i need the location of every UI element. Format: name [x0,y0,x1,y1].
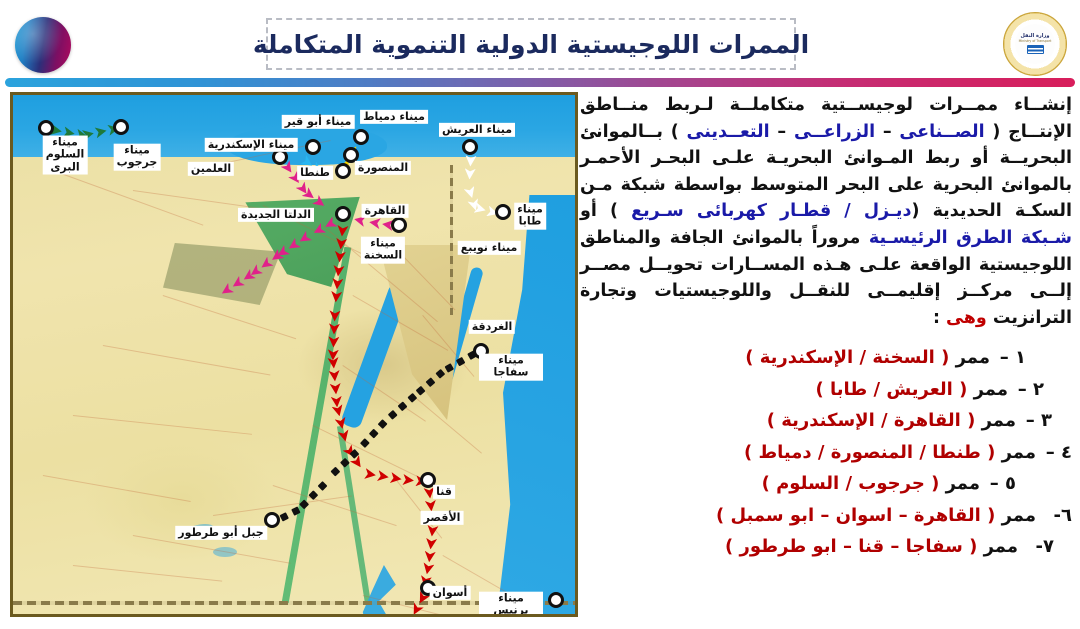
desc-wahya: وهى [946,308,987,328]
seal-sub: Ministry of Transport [1019,40,1052,43]
description-panel: إنشــاء ممــرات لوجيســتية متكاملــة لـر… [580,92,1072,619]
corridor-arrow [330,382,342,394]
map-label-berenice: ميناء برنيس [479,592,543,617]
map-label-abutartour: جبل أبو طرطور [175,526,267,540]
map-label-tanta: طنطا [297,166,333,180]
desc-rail: ديـزل / قطـار كهربائى سـريع [631,201,911,221]
description-paragraph: إنشــاء ممــرات لوجيســتية متكاملــة لـر… [580,92,1072,331]
road-segment [163,295,296,339]
desc-after-2: ) أو [580,201,631,221]
corridor-arrow [328,336,339,347]
corridor-arrow [402,474,414,486]
road-segment [103,345,271,376]
page-title-box: الممرات اللوجيستية الدولية التنموية المت… [266,18,796,70]
corridor-arrow [398,401,408,411]
corridor-arrow [426,377,436,387]
corridor-arrow [328,323,339,334]
seal-inner: وزارة النقل Ministry of Transport [1015,24,1055,64]
corridor-number: ٥ – [986,473,1016,496]
corridor-arish-taba [464,155,477,188]
map-label-aboukir: ميناء أبو قير [282,115,355,129]
map-node-cairo[interactable] [335,206,351,222]
corridor-arrow [465,155,477,167]
corridor-item-5: ٥ – ممر ( جرجوب / السلوم ) [580,473,1016,496]
corridor-word: ممر [975,410,1016,431]
map-node-arish[interactable] [462,139,478,155]
corridor-word: ممر [995,505,1036,526]
corridor-arrow [390,472,403,485]
corridor-arrow [456,356,466,366]
ministry-of-transport-seal-icon: وزارة النقل Ministry of Transport [1003,12,1067,76]
eastern-border-line [450,165,453,315]
corridor-arrow [330,466,340,476]
road-segment [73,565,222,582]
map-label-aswan: أسوان [430,586,471,600]
map-node-tanta[interactable] [335,163,351,179]
corridor-arrow [424,550,436,562]
corridor-word: ممر [967,379,1008,400]
egypt-corridors-map[interactable]: ميناء السلوم البرىميناء جرجوبالعلمينمينا… [10,92,578,617]
map-label-hurghada: الغردقة [469,320,515,334]
map-label-arish: ميناء العريش [439,123,515,137]
map-label-alexandria: ميناء الإسكندرية [205,138,298,152]
corridor-arrow [360,438,370,448]
corridor-arrow [308,490,318,500]
map-node-berenice[interactable] [548,592,564,608]
map-label-alamein: العلمين [188,162,234,176]
corridor-route: ممر ( طنطا / المنصورة / دمياط ) [744,442,1036,465]
road-segment [223,615,382,617]
corridor-arrow [340,457,350,467]
corridor-arrow [474,202,488,216]
map-label-qena: قنا [433,485,455,499]
map-label-sokhna: ميناء السخنة [361,237,405,264]
map-label-mansoura: المنصورة [355,161,411,175]
map-node-jarjoub[interactable] [113,119,129,135]
road-segment [273,485,397,526]
corridor-list: ١ – ممر ( السخنة / الإسكندرية )٢ – ممر (… [580,347,1072,559]
road-segment [412,395,482,454]
map-node-taba[interactable] [495,204,511,220]
corridor-arrow [369,428,379,438]
corridor-arrow [331,277,343,289]
corridor-arrow [280,512,289,521]
corridor-word: ممر [977,536,1018,557]
corridor-arrow [334,250,346,262]
corridor-word: ممر [939,473,980,494]
corridor-arrow [364,468,377,481]
map-label-taba: ميناء طابا [514,203,546,230]
corridor-arrow [332,404,345,417]
corridor-item-4: ٤ – ممر ( طنطا / المنصورة / دمياط ) [580,442,1072,465]
map-label-luxor: الأقصر [421,511,464,525]
map-label-cairo: القاهرة [362,204,409,218]
map-label-jarjoub: ميناء جرجوب [114,144,161,171]
corridor-item-2: ٢ – ممر ( العريش / طابا ) [580,379,1044,402]
corridor-route: ممر ( سفاجا – قنا – ابو طرطور ) [725,536,1018,559]
desc-industrial: الصــناعى [899,122,984,142]
corridor-word: ممر [995,442,1036,463]
corridor-arrow [329,310,340,321]
desc-open-paren: ( [985,122,1001,142]
accent-gradient-bar [5,78,1075,87]
corridor-number: ٧- [1024,536,1054,559]
corridor-arrow [328,357,340,369]
corridor-route: ممر ( السخنة / الإسكندرية ) [745,347,990,370]
corridor-arrow [95,125,108,138]
corridor-arrow [335,416,348,429]
corridor-item-1: ١ – ممر ( السخنة / الإسكندرية ) [580,347,1026,370]
map-label-salloum: ميناء السلوم البرى [43,136,88,175]
map-label-damietta: ميناء دمياط [360,110,428,124]
corridor-arrow [338,429,351,442]
corridor-route: ممر ( القاهرة – اسوان – ابو سمبل ) [716,505,1036,528]
corridor-route: ممر ( القاهرة / الإسكندرية ) [767,410,1016,433]
corridor-arrow [416,385,426,395]
seal-wave-mark-icon [1027,45,1044,54]
map-label-newdelta: الدلتا الجديدة [238,208,314,222]
desc-roads: شـبكة الطرق الرئيسـية [869,228,1072,248]
corridor-arrow [377,470,390,483]
corridor-arrow [335,237,347,249]
corridor-item-7: ٧- ممر ( سفاجا – قنا – ابو طرطور ) [580,536,1054,559]
corridor-route: ممر ( جرجوب / السلوم ) [762,473,980,496]
corridor-number: ٤ – [1042,442,1072,465]
corridor-arrow [336,224,348,236]
corridor-number: ٦- [1042,505,1072,528]
desc-sep-1: – [875,122,899,142]
corridor-arrow [445,363,455,373]
corridor-item-6: ٦- ممر ( القاهرة – اسوان – ابو سمبل ) [580,505,1072,528]
map-node-damietta[interactable] [353,129,369,145]
map-node-aboukir[interactable] [305,139,321,155]
corridor-number: ٣ – [1022,410,1052,433]
corridor-arrow [425,537,437,549]
corridor-number: ٢ – [1014,379,1044,402]
corridor-route: ممر ( العريش / طابا ) [815,379,1008,402]
corridor-item-3: ٣ – ممر ( القاهرة / الإسكندرية ) [580,410,1052,433]
corridor-arrow [464,168,476,180]
desc-mining: التعــدينى [687,122,770,142]
corridor-arrow [299,499,309,509]
road-segment [353,295,449,351]
corridor-arrow [330,290,342,302]
map-node-sokhna[interactable] [391,217,407,233]
corridor-arrow [425,499,437,511]
map-canvas: ميناء السلوم البرىميناء جرجوبالعلمينمينا… [13,95,575,614]
corridor-word: ممر [949,347,990,368]
desc-agricultural: الزراعــى [794,122,875,142]
map-label-nuweiba: ميناء نويبع [458,241,521,255]
desc-sep-2: – [770,122,794,142]
corridor-arrow [329,369,341,381]
infographic-page: الممرات اللوجيستية الدولية التنموية المت… [0,0,1080,629]
corridor-arrow [333,265,345,277]
page-title: الممرات اللوجيستية الدولية التنموية المت… [253,30,809,59]
desc-colon: : [933,308,946,328]
header-band: الممرات اللوجيستية الدولية التنموية المت… [0,0,1080,88]
corridor-arrow [421,562,434,575]
gradient-sphere-logo-icon [15,17,71,73]
road-segment [43,475,191,502]
road-segment [73,415,252,435]
map-label-safaga: ميناء سفاجا [479,354,543,381]
corridor-cairo-aswan-abusimbel [328,310,341,357]
corridor-number: ١ – [996,347,1026,370]
map-node-salloum[interactable] [38,120,54,136]
corridor-arrow [388,409,398,419]
corridor-arrow [426,524,438,536]
